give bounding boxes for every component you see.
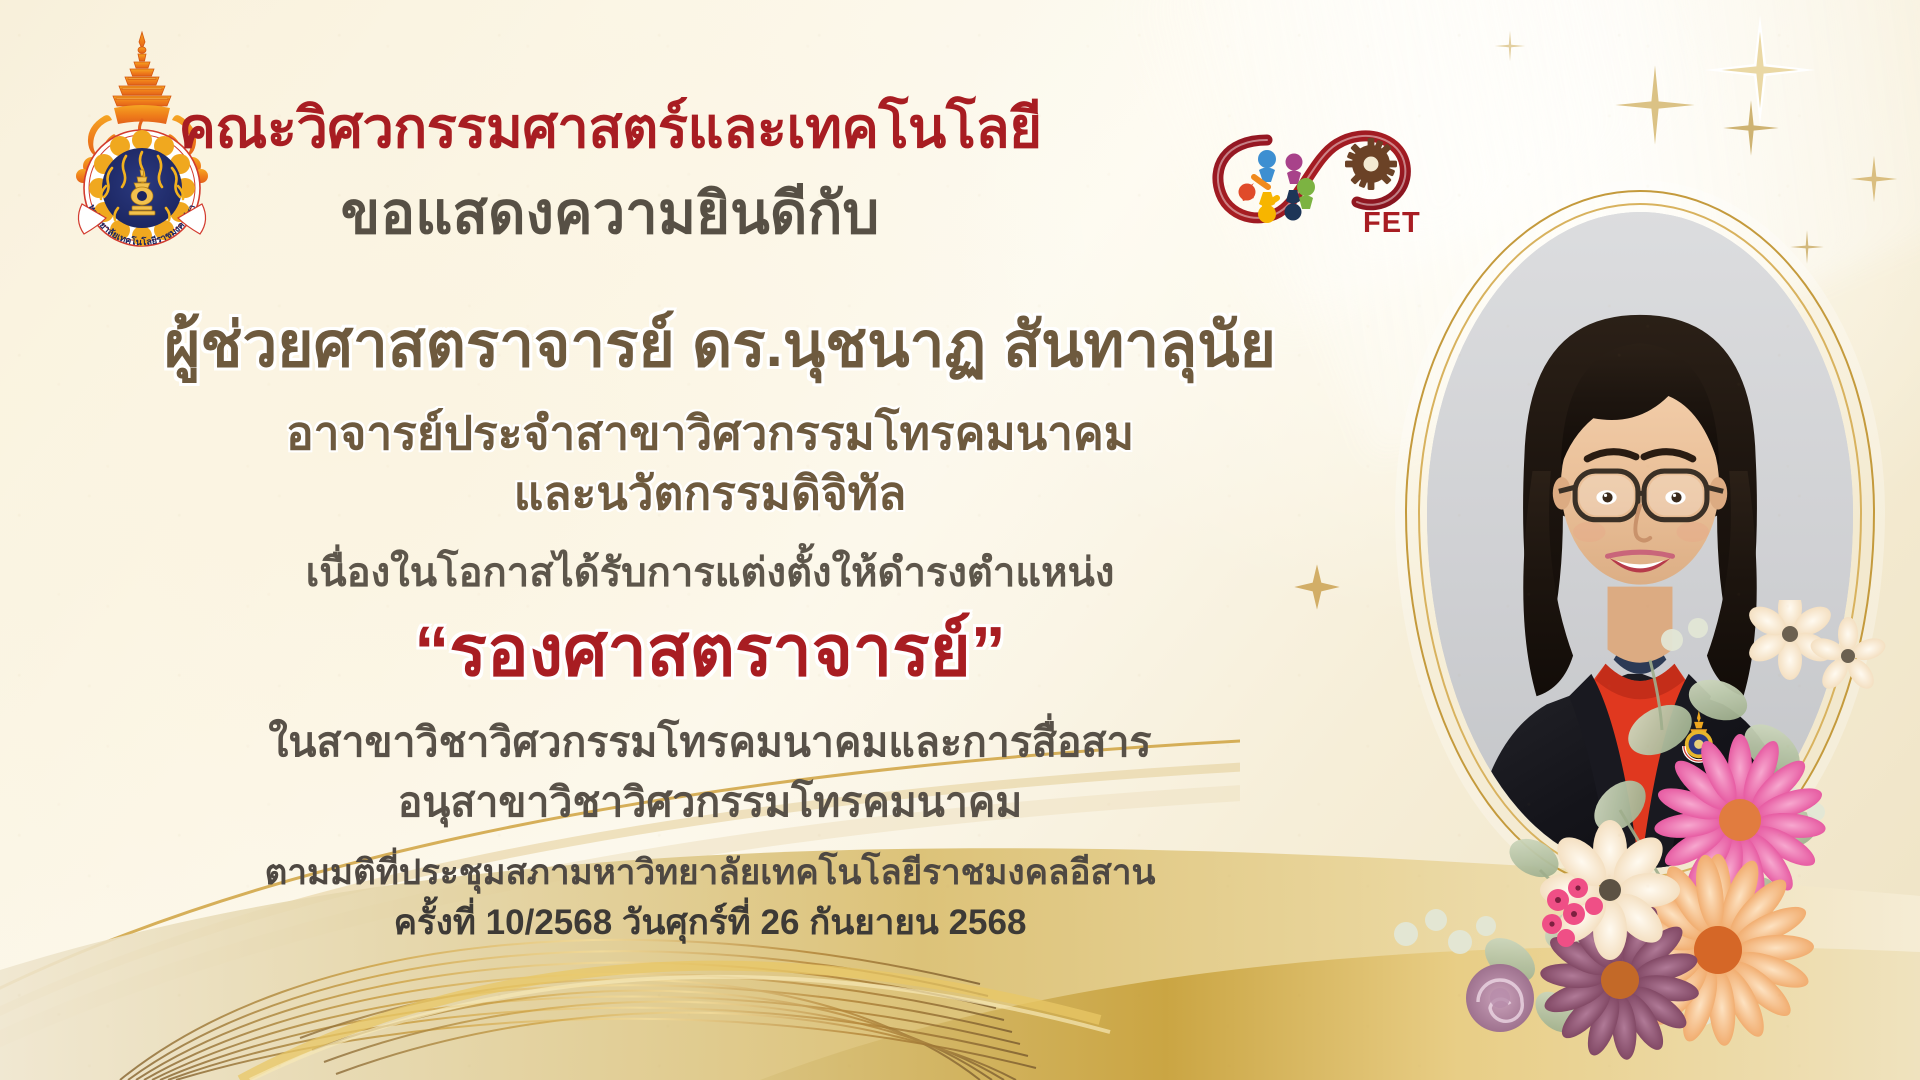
congratulation-banner: มหาวิทยาลัยเทคโนโลยีราชมงคลอีสาน	[0, 0, 1920, 1080]
occasion-text: เนื่องในโอกาสได้รับการแต่งตั้งให้ดำรงตำแ…	[60, 553, 1360, 593]
position-line-2: และนวัตกรรมดิจิทัล	[60, 470, 1360, 516]
sparkle-star-icon	[1700, 10, 1820, 130]
honoree-name: ผู้ช่วยศาสตราจารย์ ดร.นุชนาฏ สันทาลุนัย	[30, 315, 1410, 377]
faculty-title: คณะวิศวกรรมศาสตร์และเทคโนโลยี	[60, 100, 1160, 156]
field-line-2: อนุสาขาวิชาวิศวกรรมโทรคมนาคม	[60, 782, 1360, 823]
resolution-line-2: ครั้งที่ 10/2568 วันศุกร์ที่ 26 กันยายน …	[60, 905, 1360, 940]
congratulation-text: ขอแสดงความยินดีกับ	[60, 185, 1160, 243]
banner-text-block: คณะวิศวกรรมศาสตร์และเทคโนโลยี ขอแสดงความ…	[0, 0, 1415, 1080]
resolution-line-1: ตามมติที่ประชุมสภามหาวิทยาลัยเทคโนโลยีรา…	[60, 855, 1360, 890]
sparkle-star-icon	[1718, 95, 1784, 161]
new-academic-title: “รองศาสตราจารย์”	[60, 616, 1360, 686]
field-line-1: ในสาขาวิชาวิศวกรรมโทรคมนาคมและการสื่อสาร	[60, 722, 1360, 763]
position-line-1: อาจารย์ประจำสาขาวิศวกรรมโทรคมนาคม	[60, 410, 1360, 456]
sparkle-star-icon	[1610, 60, 1700, 150]
sparkle-star-icon	[1490, 26, 1530, 66]
